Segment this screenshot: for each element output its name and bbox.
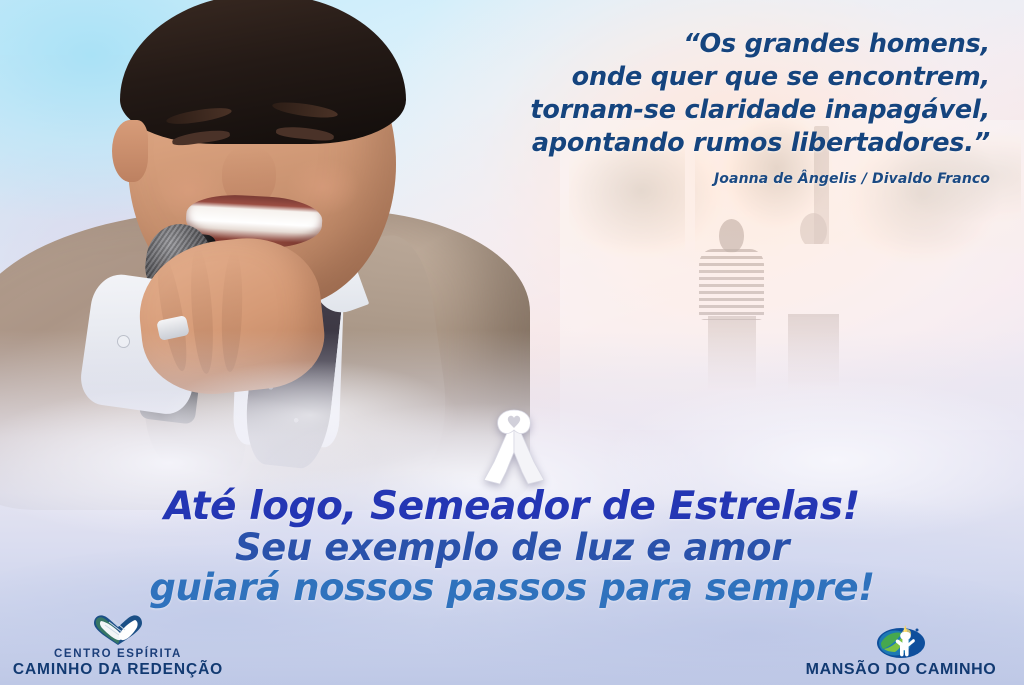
message-line-3: guiará nossos passos para sempre! <box>0 569 1024 607</box>
message-line-2: Seu exemplo de luz e amor <box>0 529 1024 567</box>
figure-torso <box>779 244 848 317</box>
background-photo-fence <box>842 281 964 331</box>
heart-hands-icon <box>92 614 144 646</box>
white-ribbon-icon <box>480 406 548 488</box>
logo-right-line-2: MANSÃO DO CAMINHO <box>786 661 1016 679</box>
quote-block: “Os grandes homens, onde quer que se enc… <box>430 28 990 187</box>
quote-line-3: tornam-se claridade inapagável, <box>430 94 990 127</box>
quote-attribution: Joanna de Ângelis / Divaldo Franco <box>430 171 990 187</box>
figure-torso <box>699 249 764 319</box>
message-line-1: Até logo, Semeador de Estrelas! <box>0 487 1024 527</box>
quote-line-4: apontando rumos libertadores.” <box>430 127 990 160</box>
logo-centro-espirita-caminho-da-redencao: CENTRO ESPÍRITA CAMINHO DA REDENÇÃO <box>8 614 228 679</box>
logo-left-line-1: CENTRO ESPÍRITA <box>8 648 228 661</box>
quote-line-2: onde quer que se encontrem, <box>430 61 990 94</box>
figure-head <box>719 219 744 252</box>
logo-left-line-2: CAMINHO DA REDENÇÃO <box>8 661 228 679</box>
portrait-hair <box>120 0 406 144</box>
quote-line-1: “Os grandes homens, <box>430 28 990 61</box>
globe-figure-icon <box>874 621 928 659</box>
logo-mansao-do-caminho: MANSÃO DO CAMINHO <box>786 621 1016 679</box>
tribute-message: Até logo, Semeador de Estrelas! Seu exem… <box>0 487 1024 607</box>
memorial-poster: “Os grandes homens, onde quer que se enc… <box>0 0 1024 685</box>
figure-head <box>800 213 827 248</box>
portrait-ear <box>112 120 148 182</box>
